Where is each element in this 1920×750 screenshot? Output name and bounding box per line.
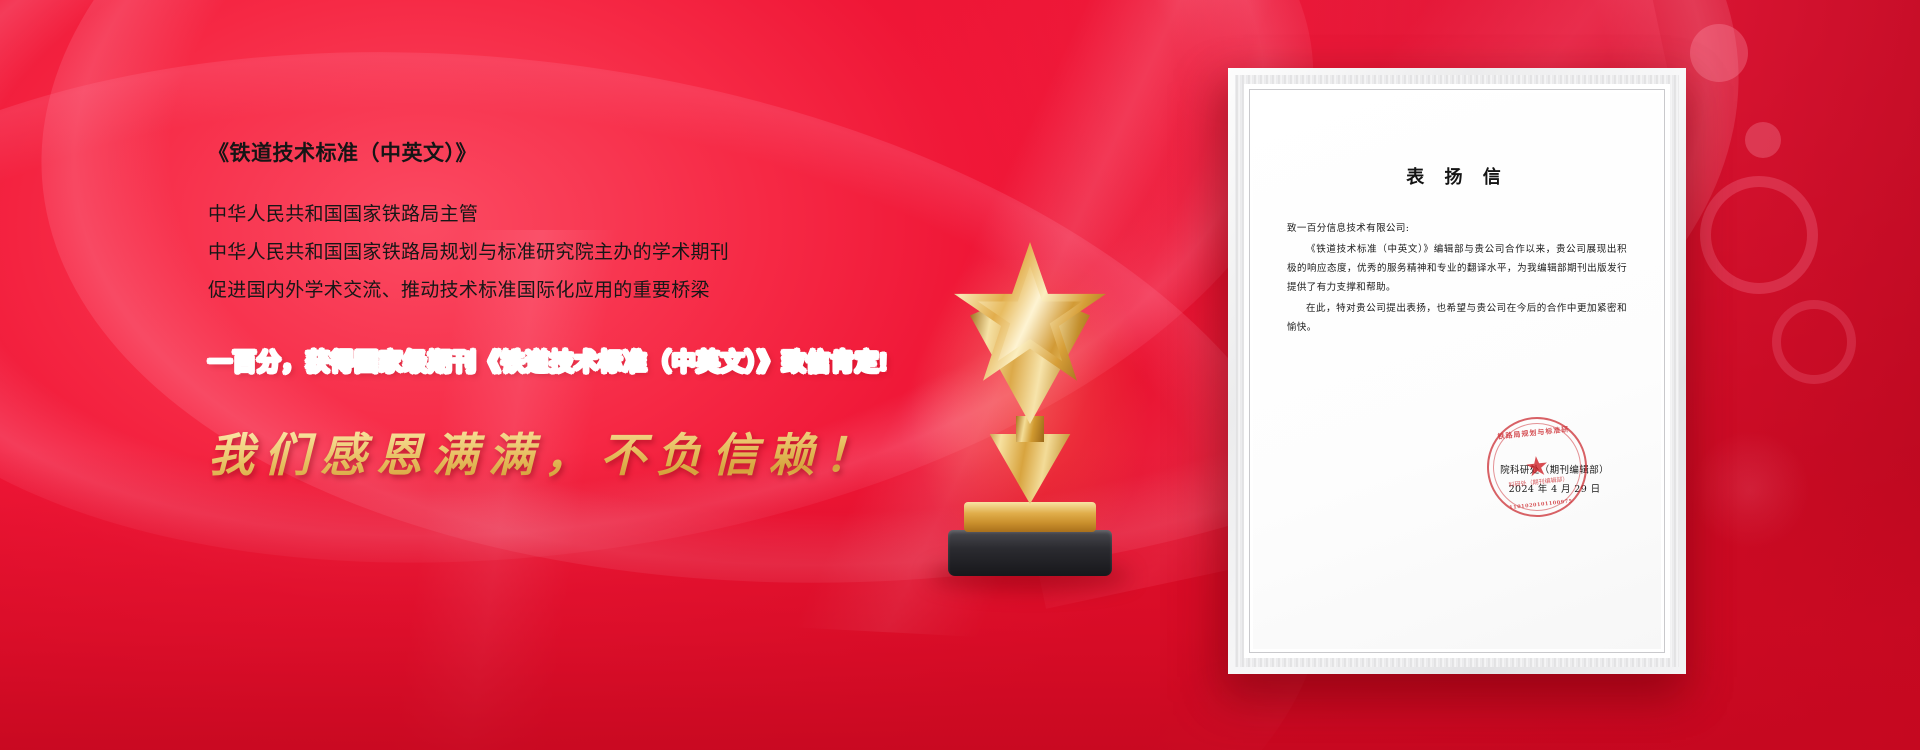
trophy-base xyxy=(948,530,1112,576)
banner-stage: 《铁道技术标准（中英文）》 中华人民共和国国家铁路局主管 中华人民共和国国家铁路… xyxy=(0,0,1920,750)
left-text-column: 《铁道技术标准（中英文）》 中华人民共和国国家铁路局主管 中华人民共和国国家铁路… xyxy=(208,140,968,485)
certificate-paragraph-2: 在此，特对贵公司提出表扬，也希望与贵公司在今后的合作中更加紧密和愉快。 xyxy=(1287,299,1627,337)
certificate-frame-inner-line: 表 扬 信 致一百分信息技术有限公司: 《铁道技术标准（中英文）》编辑部与贵公司… xyxy=(1249,89,1665,653)
intro-line-1: 中华人民共和国国家铁路局主管 xyxy=(208,205,968,226)
certificate-paper: 表 扬 信 致一百分信息技术有限公司: 《铁道技术标准（中英文）》编辑部与贵公司… xyxy=(1253,93,1661,649)
certificate-frame: 表 扬 信 致一百分信息技术有限公司: 《铁道技术标准（中英文）》编辑部与贵公司… xyxy=(1228,68,1686,674)
official-seal-icon: 铁路局规划与标准研 ★ 科研处（期刊编辑部） 1101020101100975 xyxy=(1482,412,1592,522)
intro-line-2: 中华人民共和国国家铁路局规划与标准研究院主办的学术期刊 xyxy=(208,243,968,264)
certificate-frame-bevel: 表 扬 信 致一百分信息技术有限公司: 《铁道技术标准（中英文）》编辑部与贵公司… xyxy=(1235,75,1679,667)
journal-title: 《铁道技术标准（中英文）》 xyxy=(208,140,968,167)
calligraphy-slogan: 我们感恩满满，不负信赖！ xyxy=(208,419,968,485)
certificate-paragraph-1: 《铁道技术标准（中英文）》编辑部与贵公司合作以来，贵公司展现出积极的响应态度，优… xyxy=(1287,240,1627,297)
certificate-title: 表 扬 信 xyxy=(1287,163,1627,189)
intro-line-3: 促进国内外学术交流、推动技术标准国际化应用的重要桥梁 xyxy=(208,281,968,302)
gold-star-trophy-icon xyxy=(920,250,1140,580)
certificate-salutation: 致一百分信息技术有限公司: xyxy=(1287,219,1627,238)
highlight-headline: 一百分，获得国家级期刊《铁道技术标准（中英文）》致信肯定! xyxy=(208,342,968,377)
trophy-base-gold xyxy=(964,502,1096,532)
